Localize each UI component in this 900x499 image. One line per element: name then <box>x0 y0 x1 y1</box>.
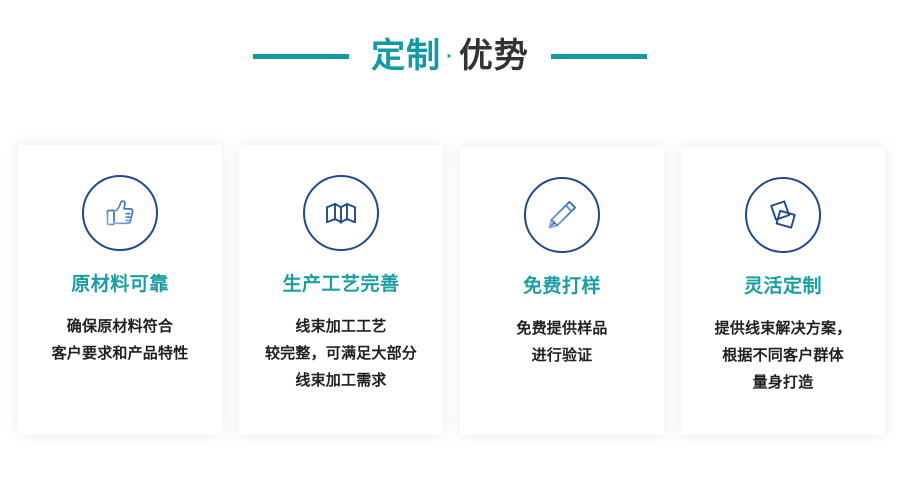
section-header: 定制 · 优势 <box>0 28 900 84</box>
card-body: 免费提供样品 进行验证 <box>516 315 607 369</box>
pencil-icon <box>543 196 581 234</box>
title-separator-dot: · <box>446 47 454 67</box>
card-body: 线束加工工艺 较完整，可满足大部分 线束加工需求 <box>265 313 417 394</box>
body-line: 免费提供样品 <box>516 315 607 342</box>
body-line: 确保原材料符合 <box>52 313 189 340</box>
icon-badge <box>303 175 379 251</box>
feature-card-production-process[interactable]: 生产工艺完善 线束加工工艺 较完整，可满足大部分 线束加工需求 <box>239 145 443 435</box>
feature-card-raw-material[interactable]: 原材料可靠 确保原材料符合 客户要求和产品特性 <box>18 145 222 435</box>
body-line: 较完整，可满足大部分 <box>265 340 417 367</box>
page-title: 定制 · 优势 <box>371 39 529 73</box>
body-line: 根据不同客户群体 <box>715 342 852 369</box>
page-title-secondary: 优势 <box>459 39 529 73</box>
feature-card-flexible-customization[interactable]: 灵活定制 提供线束解决方案， 根据不同客户群体 量身打造 <box>681 147 885 435</box>
title-rule-left <box>253 54 349 59</box>
body-line: 进行验证 <box>516 342 607 369</box>
feature-card-free-sample[interactable]: 免费打样 免费提供样品 进行验证 <box>460 147 664 435</box>
body-line: 线束加工需求 <box>265 367 417 394</box>
stacked-cards-icon <box>764 196 802 234</box>
body-line: 提供线束解决方案， <box>715 315 852 342</box>
card-heading: 免费打样 <box>523 277 601 296</box>
body-line: 线束加工工艺 <box>265 313 417 340</box>
icon-badge <box>82 175 158 251</box>
body-line: 客户要求和产品特性 <box>52 340 189 367</box>
title-rule-right <box>551 54 647 59</box>
card-heading: 原材料可靠 <box>71 275 169 294</box>
icon-badge <box>745 177 821 253</box>
thumbs-up-icon <box>101 194 139 232</box>
card-body: 确保原材料符合 客户要求和产品特性 <box>52 313 189 367</box>
icon-badge <box>524 177 600 253</box>
folded-map-icon <box>322 194 360 232</box>
card-heading: 灵活定制 <box>744 277 822 296</box>
card-body: 提供线束解决方案， 根据不同客户群体 量身打造 <box>715 315 852 396</box>
card-heading: 生产工艺完善 <box>282 275 399 294</box>
page-title-primary: 定制 <box>371 39 441 73</box>
feature-card-row: 原材料可靠 确保原材料符合 客户要求和产品特性 生产工艺完善 线束加工工艺 <box>18 145 887 435</box>
body-line: 量身打造 <box>715 369 852 396</box>
